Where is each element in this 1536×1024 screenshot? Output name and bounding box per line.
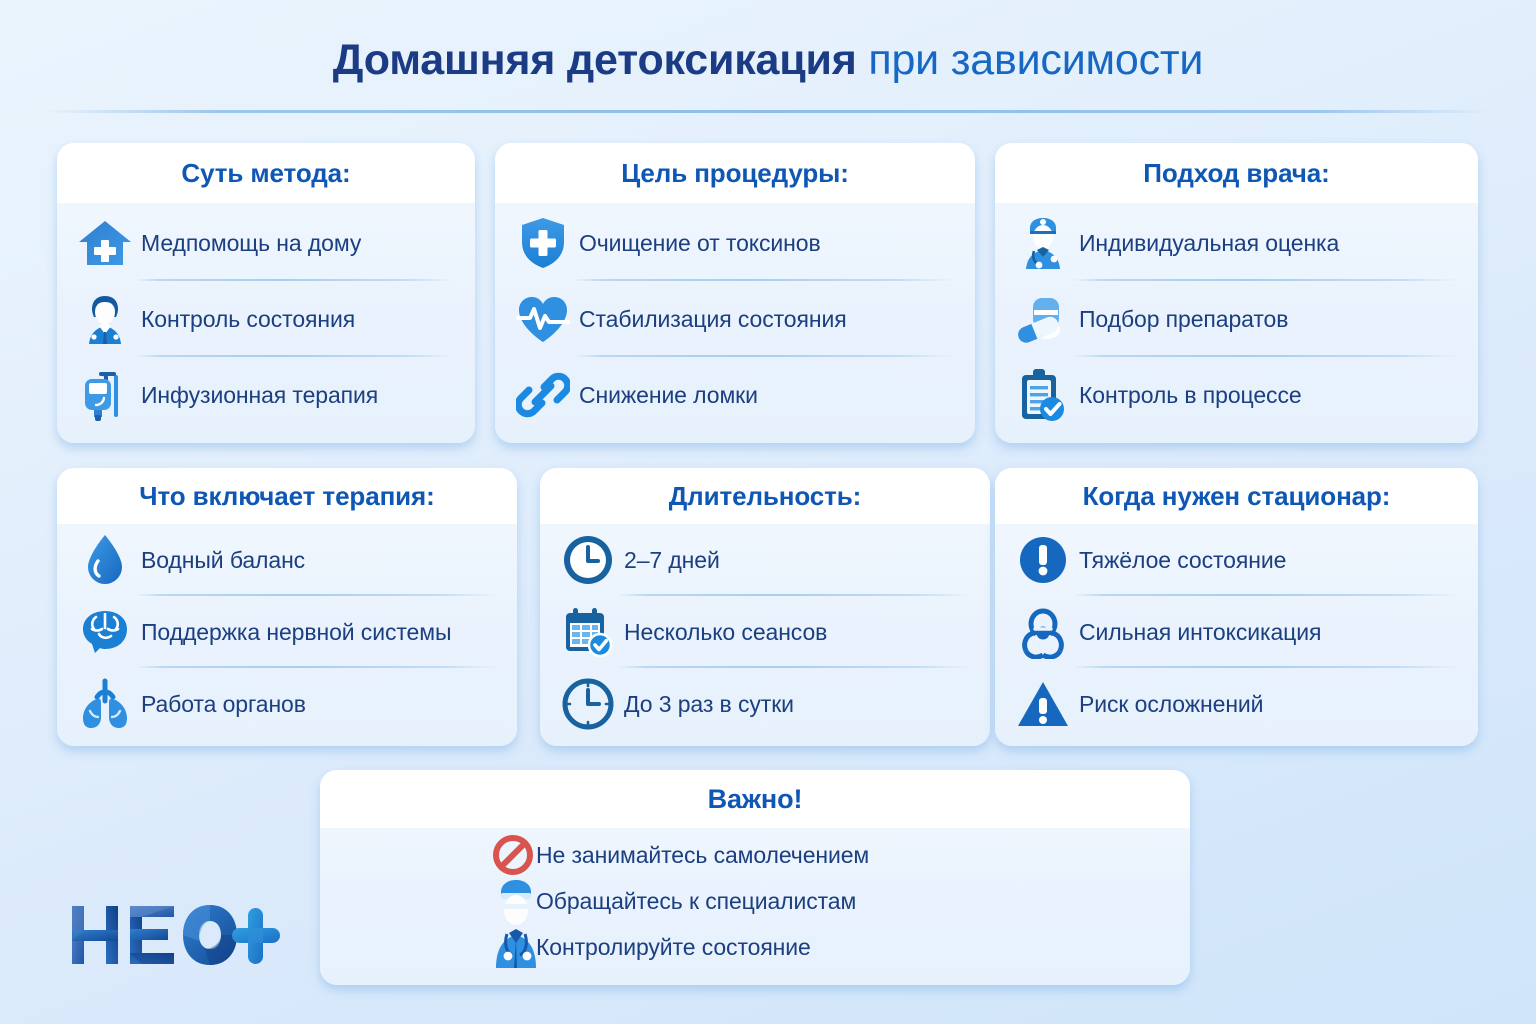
card-essence: Суть метода: Медпомощь на дому — [57, 143, 475, 443]
home-medical-icon — [73, 218, 137, 268]
list-item[interactable]: Контроль состояния — [73, 281, 459, 357]
card-goal-header: Цель процедуры: — [495, 143, 975, 203]
list-item-label: Контролируйте состояние — [536, 934, 811, 961]
list-item-label: Контроль в процессе — [1075, 382, 1302, 409]
list-item-label: Инфузионная терапия — [137, 382, 378, 409]
list-item-label: Сильная интоксикация — [1075, 619, 1321, 646]
list-item-label: 2–7 дней — [620, 547, 720, 574]
list-item[interactable]: Сильная интоксикация — [1011, 596, 1462, 668]
warning-triangle-icon — [1011, 679, 1075, 729]
doctor-stethoscope-icon — [1011, 215, 1075, 271]
list-item[interactable]: Водный баланс — [73, 524, 501, 596]
card-duration: Длительность: 2–7 дней — [540, 468, 990, 746]
list-item[interactable]: До 3 раз в сутки — [556, 668, 974, 740]
list-item-label: Риск осложнений — [1075, 691, 1263, 718]
list-item-label: Поддержка нервной системы — [137, 619, 451, 646]
neo-plus-logo[interactable] — [70, 900, 285, 970]
page-title-main: Домашняя детоксикация — [333, 36, 857, 84]
exclamation-circle-icon — [1011, 534, 1075, 586]
list-item[interactable]: Поддержка нервной системы — [73, 596, 501, 668]
list-item-label: Тяжёлое состояние — [1075, 547, 1286, 574]
card-duration-header: Длительность: — [540, 468, 990, 524]
clipboard-check-icon — [1011, 367, 1075, 423]
page-title-sub: при зависимости — [857, 36, 1204, 84]
list-item[interactable]: Контролируйте состояние — [320, 924, 1190, 970]
card-includes: Что включает терапия: Водный баланс — [57, 468, 517, 746]
card-includes-header: Что включает терапия: — [57, 468, 517, 524]
card-goal-body: Очищение от токсинов Стабилизация состоя… — [495, 203, 975, 433]
iv-drip-icon — [73, 368, 137, 422]
list-item[interactable]: Индивидуальная оценка — [1011, 205, 1462, 281]
list-item-label: Подбор препаратов — [1075, 306, 1288, 333]
card-duration-body: 2–7 дней Нескольк — [540, 524, 990, 740]
list-item-label: Не занимайтесь самолечением — [536, 842, 869, 869]
card-important-body: Не занимайтесь самолечением Обращайтесь … — [320, 828, 1190, 970]
list-item-label: Стабилизация состояния — [575, 306, 847, 333]
card-essence-header: Суть метода: — [57, 143, 475, 203]
card-includes-title: Что включает терапия: — [139, 481, 434, 512]
list-item[interactable]: Обращайтесь к специалистам — [320, 878, 1190, 924]
card-important-title: Важно! — [708, 784, 803, 815]
card-approach-header: Подход врача: — [995, 143, 1478, 203]
list-item-label: Очищение от токсинов — [575, 230, 821, 257]
list-item[interactable]: Медпомощь на дому — [73, 205, 459, 281]
brain-icon — [73, 607, 137, 657]
lungs-icon — [73, 678, 137, 730]
calendar-check-icon — [556, 605, 620, 659]
list-item-label: Обращайтесь к специалистам — [536, 888, 856, 915]
card-important: Важно! — [320, 770, 1190, 985]
list-item-label: До 3 раз в сутки — [620, 691, 794, 718]
list-item-label: Несколько сеансов — [620, 619, 827, 646]
list-item[interactable]: Риск осложнений — [1011, 668, 1462, 740]
list-item[interactable]: Не занимайтесь самолечением — [320, 832, 1190, 878]
card-inpatient-body: Тяжёлое состояние Силь — [995, 524, 1478, 740]
biohazard-icon — [1011, 605, 1075, 659]
list-item[interactable]: Стабилизация состояния — [511, 281, 959, 357]
page-title: Домашняя детоксикация при зависимости — [0, 36, 1536, 85]
card-approach-body: Индивидуальная оценка Подбор препаратов — [995, 203, 1478, 433]
list-item[interactable]: 2–7 дней — [556, 524, 974, 596]
water-drop-icon — [73, 533, 137, 587]
card-inpatient-title: Когда нужен стационар: — [1083, 481, 1391, 512]
card-duration-title: Длительность: — [669, 481, 862, 512]
list-item[interactable]: Несколько сеансов — [556, 596, 974, 668]
list-item[interactable]: Тяжёлое состояние — [1011, 524, 1462, 596]
chain-link-icon — [511, 369, 575, 421]
doctor-person-icon — [73, 292, 137, 346]
clock-filled-icon — [556, 533, 620, 587]
list-item-label: Водный баланс — [137, 547, 305, 574]
pills-icon — [1011, 294, 1075, 344]
card-goal-title: Цель процедуры: — [621, 158, 849, 189]
list-item-label: Контроль состояния — [137, 306, 355, 333]
card-approach-title: Подход врача: — [1143, 158, 1329, 189]
list-item[interactable]: Очищение от токсинов — [511, 205, 959, 281]
list-item-label: Индивидуальная оценка — [1075, 230, 1339, 257]
card-goal: Цель процедуры: Очищение от токсинов — [495, 143, 975, 443]
shield-cross-icon — [511, 216, 575, 270]
list-item-label: Снижение ломки — [575, 382, 758, 409]
list-item-label: Медпомощь на дому — [137, 230, 361, 257]
clock-outline-icon — [556, 677, 620, 731]
card-essence-body: Медпомощь на дому Контроль состояния — [57, 203, 475, 433]
list-item-label: Работа органов — [137, 691, 306, 718]
prohibition-icon — [490, 834, 536, 876]
list-item[interactable]: Инфузионная терапия — [73, 357, 459, 433]
list-item[interactable]: Работа органов — [73, 668, 501, 740]
card-inpatient-header: Когда нужен стационар: — [995, 468, 1478, 524]
heart-pulse-icon — [511, 294, 575, 344]
list-item[interactable]: Снижение ломки — [511, 357, 959, 433]
card-inpatient: Когда нужен стационар: Тяжёлое состояние — [995, 468, 1478, 746]
list-item[interactable]: Контроль в процессе — [1011, 357, 1462, 433]
card-essence-title: Суть метода: — [181, 158, 350, 189]
card-approach: Подход врача: Индивидуальная оценка — [995, 143, 1478, 443]
card-important-header: Важно! — [320, 770, 1190, 828]
title-divider — [44, 110, 1492, 113]
list-item[interactable]: Подбор препаратов — [1011, 281, 1462, 357]
card-includes-body: Водный баланс Поддержка нервной системы — [57, 524, 517, 740]
